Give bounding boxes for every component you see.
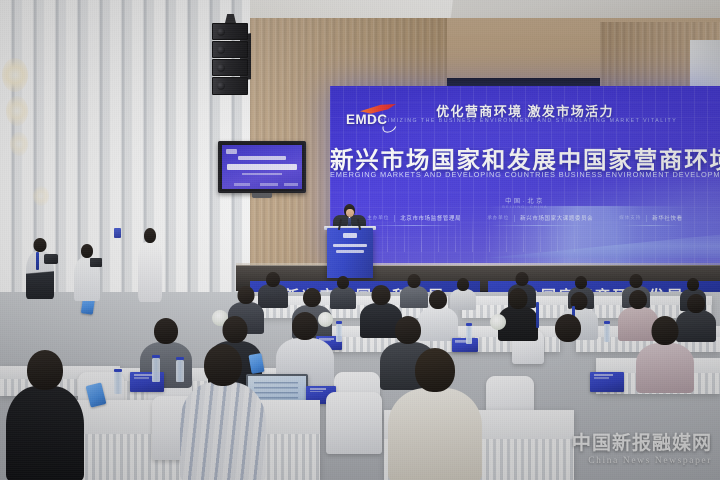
attendee-head (429, 290, 447, 309)
attendee (540, 314, 596, 386)
side-monitor-screen (222, 145, 302, 189)
attendee (498, 288, 538, 338)
name-card-header (134, 374, 153, 376)
name-card-header (310, 388, 327, 390)
attendee-head (687, 278, 699, 291)
attendee-head (238, 286, 255, 304)
side-monitor-subtitle-line (242, 173, 282, 175)
credit-divider (646, 215, 647, 222)
hostess-dress (138, 242, 162, 302)
water-bottle (152, 358, 160, 382)
wall-glow (10, 132, 28, 156)
hostess (136, 228, 164, 302)
water-bottle (114, 372, 122, 394)
screen-slogan-en: Optimizing the Business Environment and … (330, 118, 720, 124)
name-card-subheader (310, 391, 323, 393)
wall-glow (6, 96, 28, 126)
podium-text-line (333, 244, 367, 247)
side-monitor-title-line (227, 164, 297, 170)
attendee-body (388, 388, 482, 480)
speaker-module (212, 77, 248, 95)
photographer (26, 238, 54, 300)
credit-value: 新兴市场国家大课题委员会 (520, 214, 593, 222)
speaker-tie (348, 218, 351, 226)
lanyard (536, 302, 539, 328)
bottle-cap (114, 369, 122, 372)
attendee-body (180, 382, 266, 480)
speaker-module (212, 41, 248, 58)
side-monitor (218, 141, 306, 193)
side-monitor-credit-line (284, 183, 298, 186)
monitor-stand (252, 193, 272, 198)
credit-label: 承办单位 (487, 215, 509, 221)
credit-underline (619, 225, 682, 226)
attendee-head (516, 272, 529, 286)
water-bottle (336, 324, 342, 342)
name-card-subheader (455, 342, 466, 344)
attendee-head (292, 312, 318, 340)
attendee-head (223, 316, 248, 343)
credit-block: 主办单位 北京市市场监督管理局 (367, 214, 461, 222)
water-bottle (604, 324, 610, 342)
attendee-head (154, 318, 178, 344)
attendee-body (330, 287, 356, 309)
attendee-head (687, 294, 705, 313)
screen-place-cn: 中国·北京 (330, 196, 720, 205)
attendee-head (372, 285, 391, 305)
credit-divider (394, 215, 395, 222)
tablet-device[interactable] (90, 258, 102, 267)
speaker-module (212, 23, 248, 40)
attendee-head (266, 272, 280, 287)
credit-block: 承办单位 新兴市场国家大课题委员会 (487, 214, 593, 222)
press-lanyard (36, 252, 39, 270)
credit-group-coorganizer: 承办单位 新兴市场国家大课题委员会 (487, 214, 593, 222)
conference-photo: EMDC 优化营商环境 激发市场活力 Optimizing the Busine… (0, 0, 720, 480)
attendee-head (408, 274, 421, 288)
attendee (636, 316, 694, 390)
screen-credit-row: 主办单位 北京市市场监督管理局 承办单位 新兴市场国家大课题委员会 媒体支持 (330, 214, 720, 222)
podium-logo (343, 233, 357, 238)
credit-block: 媒体支持 新华社快看 (619, 214, 682, 222)
credit-value: 北京市市场监督管理局 (400, 214, 461, 222)
name-card-subheader (134, 377, 149, 379)
attendee-head (509, 288, 528, 309)
attendee-head (337, 276, 349, 289)
photographer-head (34, 238, 47, 252)
name-card-subheader (594, 377, 609, 379)
attendee-head (630, 274, 643, 288)
screen-title-en: Emerging Markets and Developing Countrie… (330, 170, 720, 179)
speaker-face (346, 209, 354, 217)
hostess-head (144, 228, 156, 243)
podium-text-line (336, 250, 364, 253)
camera-icon (44, 254, 58, 264)
credit-value: 新华社快看 (652, 214, 682, 222)
attendee-head (303, 288, 321, 307)
wall-sign (114, 228, 121, 238)
credit-label: 媒体支持 (619, 215, 641, 221)
credit-group-organizer: 主办单位 北京市市场监督管理局 (367, 214, 461, 222)
credit-underline (367, 225, 461, 226)
side-monitor-credit-line (260, 183, 278, 186)
side-monitor-slogan-line (238, 156, 286, 160)
bottle-cap (466, 323, 472, 326)
attendee-head (575, 276, 587, 289)
attendee-head (629, 290, 647, 309)
bottle-cap (604, 321, 610, 324)
bottle-cap (152, 355, 160, 358)
attendee-head (652, 316, 679, 345)
stage-edge (236, 263, 720, 266)
speaker-hanger (225, 14, 236, 23)
name-card-header (594, 374, 613, 376)
speaker-module (212, 59, 248, 76)
name-card (590, 372, 624, 392)
staff-member (74, 244, 100, 302)
wall-glow (2, 58, 28, 92)
attendee (388, 348, 482, 480)
bottle-cap (336, 321, 342, 324)
staff-head (81, 244, 93, 258)
water-bottle (466, 326, 472, 344)
attendee-body (636, 343, 694, 393)
side-monitor-logo (226, 149, 237, 154)
line-array-speaker (212, 14, 250, 98)
wall-glow (33, 186, 49, 206)
side-monitor-credit-line (234, 183, 250, 186)
flower-arrangement (490, 314, 506, 330)
credit-divider (514, 215, 515, 222)
attendee (330, 276, 356, 306)
screen-place-en: Beijing, China (330, 205, 720, 209)
attendee (6, 350, 84, 480)
attendee-head (204, 344, 242, 386)
attendee-head (457, 278, 469, 291)
attendee-body (6, 386, 84, 480)
credit-group-media: 媒体支持 新华社快看 (619, 214, 682, 222)
attendee-head (415, 348, 455, 392)
attendee-head (555, 314, 581, 342)
attendee-head (395, 316, 421, 344)
credit-underline (487, 225, 593, 226)
attendee-head (27, 350, 63, 390)
podium (327, 228, 373, 278)
attendee-body (540, 340, 596, 390)
credit-label: 主办单位 (367, 215, 389, 221)
banquet-chair (326, 392, 382, 454)
main-led-screen: EMDC 优化营商环境 激发市场活力 Optimizing the Busine… (330, 86, 720, 268)
